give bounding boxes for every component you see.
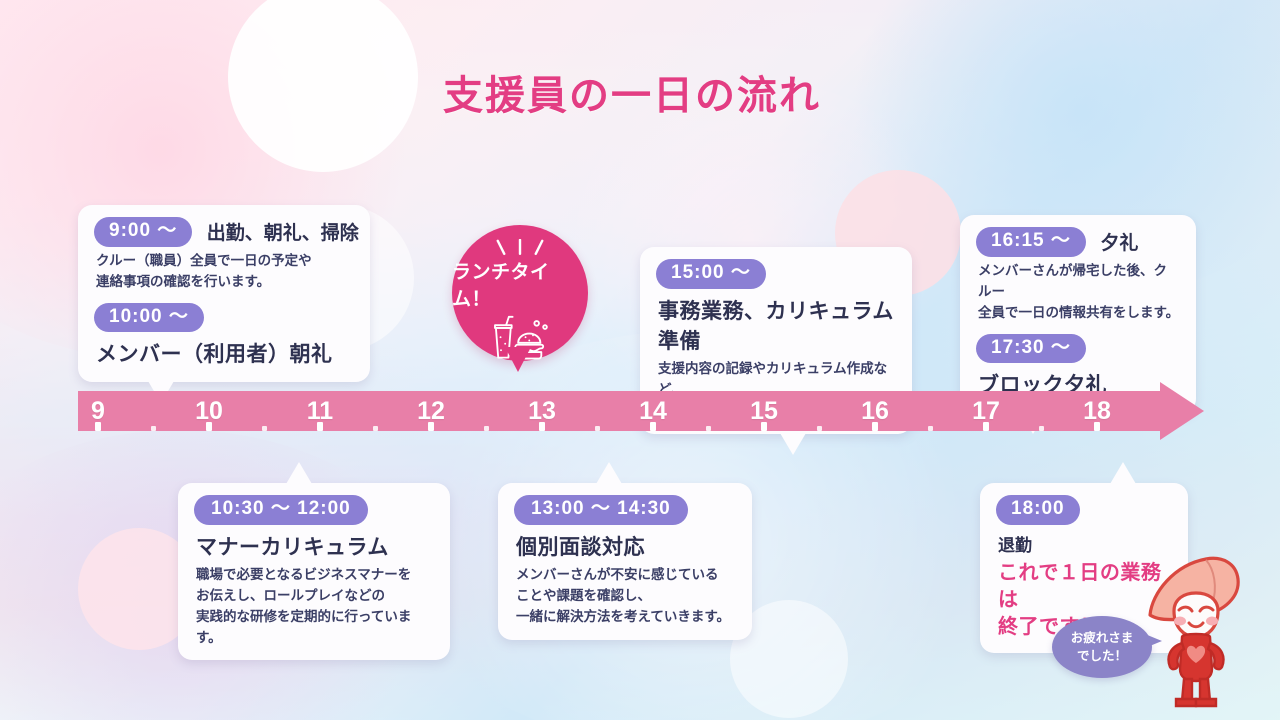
card-row-time: 13:00 〜 14:30: [514, 495, 736, 525]
card-heading-attendance: 出勤、朝礼、掃除: [207, 218, 359, 245]
card-heading-office-work: 事務業務、カリキュラム準備: [658, 295, 896, 355]
time-badge-1030-1200: 10:30 〜 12:00: [194, 495, 368, 525]
timeline-tick-17: [983, 422, 989, 431]
card-body-attendance: クルー（職員）全員で一日の予定や 連絡事項の確認を行います。: [96, 251, 354, 293]
timeline-axis: 9101112131415161718: [78, 391, 1208, 431]
timeline-tick-11: [317, 422, 323, 431]
timeline-tick-half-11: [373, 426, 378, 431]
card-body-evening-meeting: メンバーさんが帰宅した後、クルー 全員で一日の情報共有をします。: [978, 261, 1180, 324]
timeline-card-morning[interactable]: 9:00 〜 出勤、朝礼、掃除 クルー（職員）全員で一日の予定や 連絡事項の確認…: [78, 205, 370, 382]
card-row-time1: 9:00 〜 出勤、朝礼、掃除: [94, 217, 354, 247]
card-tail: [596, 462, 622, 484]
timeline-tick-half-14: [706, 426, 711, 431]
card-row-time2: 17:30 〜: [976, 334, 1180, 364]
card-heading-individual-interview: 個別面談対応: [516, 531, 736, 561]
card-body-individual-interview: メンバーさんが不安に感じている ことや課題を確認し、 一緒に解決方法を考えていき…: [516, 565, 736, 628]
slide-canvas: 支援員の一日の流れ 9:00 〜 出勤、朝礼、掃除 クルー（職員）全員で一日の予…: [0, 0, 1280, 720]
card-tail: [286, 462, 312, 484]
time-badge-1500: 15:00 〜: [656, 259, 766, 289]
card-row-time: 10:30 〜 12:00: [194, 495, 434, 525]
timeline-tick-14: [650, 422, 656, 431]
time-badge-1300-1430: 13:00 〜 14:30: [514, 495, 688, 525]
timeline-card-individual-interview[interactable]: 13:00 〜 14:30 個別面談対応 メンバーさんが不安に感じている ことや…: [498, 483, 752, 640]
timeline-arrow-head: [1160, 382, 1204, 440]
card-tail: [780, 433, 806, 455]
lunch-time-label: ランチタイム！: [452, 257, 588, 311]
time-badge-1730: 17:30 〜: [976, 334, 1086, 364]
lunch-badge-tail: [505, 347, 531, 372]
card-row-time2: 10:00 〜: [94, 303, 354, 333]
card-row-time: 15:00 〜: [656, 259, 896, 289]
card-heading-manner-curriculum: マナーカリキュラム: [196, 531, 434, 561]
timeline-tick-half-15: [817, 426, 822, 431]
card-row-time: 18:00: [996, 495, 1172, 525]
time-badge-1615: 16:15 〜: [976, 227, 1086, 257]
sparkle-lines-icon: [490, 239, 550, 256]
card-heading-evening-meeting: 夕礼: [1100, 228, 1138, 255]
card-row-time1: 16:15 〜 夕礼: [976, 227, 1180, 257]
timeline-tick-13: [539, 422, 545, 431]
mascot-character-icon: [1148, 553, 1244, 713]
mascot-speech-bubble: お疲れさま でした！: [1052, 616, 1152, 678]
card-heading-member-meeting: メンバー（利用者）朝礼: [96, 338, 354, 368]
timeline-tick-16: [872, 422, 878, 431]
timeline-tick-10: [206, 422, 212, 431]
timeline-tick-12: [428, 422, 434, 431]
timeline-card-manner-curriculum[interactable]: 10:30 〜 12:00 マナーカリキュラム 職場で必要となるビジネスマナーを…: [178, 483, 450, 660]
time-badge-0900: 9:00 〜: [94, 217, 192, 247]
card-heading-leave: 退勤: [998, 531, 1172, 556]
timeline-tick-half-17: [1039, 426, 1044, 431]
lunch-time-badge[interactable]: ランチタイム！: [452, 225, 588, 361]
card-tail: [1110, 462, 1136, 484]
timeline-tick-9: [95, 422, 101, 431]
decorative-circle-large-white: [228, 0, 418, 172]
time-badge-1000: 10:00 〜: [94, 303, 204, 333]
time-badge-1800: 18:00: [996, 495, 1080, 525]
page-title: 支援員の一日の流れ: [443, 74, 821, 118]
timeline-tick-18: [1094, 422, 1100, 431]
timeline-tick-half-9: [151, 426, 156, 431]
card-body-manner-curriculum: 職場で必要となるビジネスマナーを お伝えし、ロールプレイなどの 実践的な研修を定…: [196, 565, 434, 649]
mascot-speech-text: お疲れさま でした！: [1071, 629, 1134, 665]
timeline-tick-half-13: [595, 426, 600, 431]
timeline-tick-half-16: [928, 426, 933, 431]
timeline-tick-half-10: [262, 426, 267, 431]
timeline-tick-half-12: [484, 426, 489, 431]
timeline-tick-15: [761, 422, 767, 431]
